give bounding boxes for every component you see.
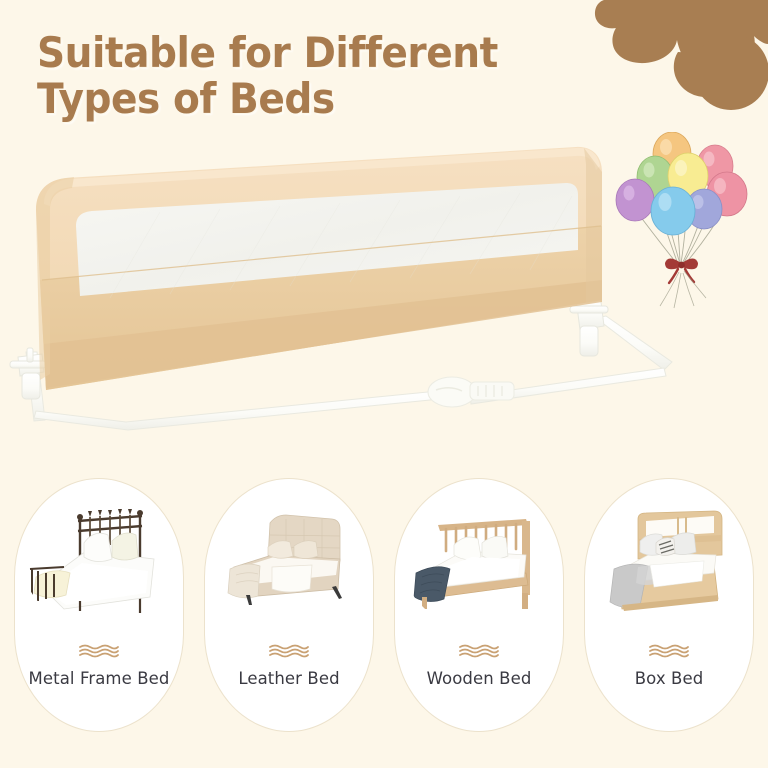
wavy-divider-icon [268,643,310,659]
bed-type-card-wooden-bed[interactable]: Wooden Bed [394,478,564,732]
box-bed-photo [592,489,746,629]
bed-type-card-box-bed[interactable]: Box Bed [584,478,754,732]
cloud-icon [568,0,768,130]
bed-type-label: Box Bed [627,669,712,688]
wooden-bed-photo [402,489,556,629]
page-title: Suitable for Different Types of Beds [37,30,597,122]
bed-rail-guard-illustration [0,130,768,460]
title-line-2: Types of Beds [37,76,558,122]
bed-type-label: Leather Bed [230,669,347,688]
title-line-1: Suitable for Different [37,30,558,76]
leather-bed-photo [212,489,366,629]
wavy-divider-icon [78,643,120,659]
infographic-page: Suitable for Different Types of Beds [0,0,768,768]
bed-type-card-leather-bed[interactable]: Leather Bed [204,478,374,732]
hero-product-image [0,130,768,460]
cloud-decoration [568,0,768,130]
wavy-divider-icon [648,643,690,659]
rail-panel [36,147,602,390]
wavy-divider-icon [458,643,500,659]
metal-frame-bed-photo [22,489,176,629]
bed-type-label: Metal Frame Bed [21,669,178,688]
bed-type-label: Wooden Bed [419,669,540,688]
bed-type-card-metal-frame-bed[interactable]: Metal Frame Bed [14,478,184,732]
bed-type-card-row: Metal Frame Bed [0,478,768,740]
